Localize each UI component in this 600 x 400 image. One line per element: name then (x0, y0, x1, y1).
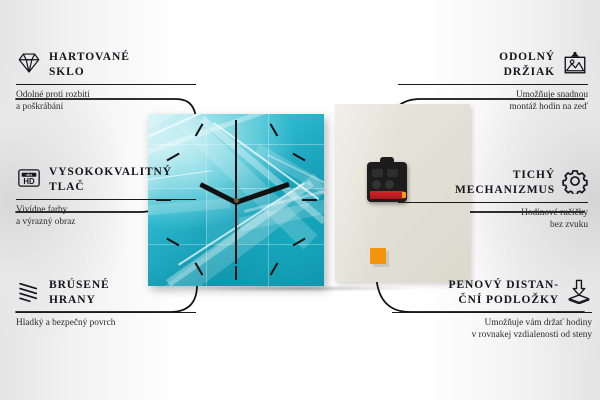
feature-description: Vivídne farby a výrazný obraz (16, 205, 196, 228)
feature-ground-edges: BRÚSENÉ HRANY Hladký a bezpečný povrch (16, 278, 196, 330)
feature-title: HARTOVANÉ SKLO (49, 50, 130, 80)
ultra-hd-icon: ultra HD (16, 165, 42, 191)
mechanism-detail-4 (385, 180, 394, 189)
product-infographic: HARTOVANÉ SKLO Odolné proti rozbití a po… (0, 0, 600, 400)
feature-description: Odolné proti rozbití a poškrábání (16, 90, 196, 113)
svg-text:HD: HD (23, 177, 35, 186)
feature-title: VYSOKOKVALITNÝ TLAČ (49, 165, 172, 195)
hour-marker (235, 266, 237, 280)
hour-marker (270, 123, 279, 136)
feature-high-quality-print: ultra HD VYSOKOKVALITNÝ TLAČ Vivídne far… (16, 165, 196, 228)
mechanism-detail-2 (387, 169, 398, 177)
hour-marker (302, 199, 317, 201)
feature-durable-holder: ODOLNÝ DRŽIAK Umožňuje snadnou montáž ho… (398, 50, 588, 113)
feature-title: PENOVÝ DISTAN- ČNÍ PODLOŽKY (449, 278, 559, 308)
feature-title: ODOLNÝ DRŽIAK (499, 50, 555, 80)
divider (16, 84, 196, 85)
diamond-icon (16, 50, 42, 76)
clock-hub (234, 198, 239, 203)
foam-spacer-icon (566, 278, 592, 304)
gear-icon (562, 168, 588, 194)
foam-spacer-pad (370, 248, 386, 264)
hour-marker (292, 153, 305, 162)
feature-foam-spacers: PENOVÝ DISTAN- ČNÍ PODLOŽKY Umožňuje vám… (392, 278, 592, 341)
feature-description: Hladký a bezpečný povrch (16, 318, 196, 330)
ground-edges-icon (16, 278, 42, 304)
feature-silent-mechanism: TICHÝ MECHANIZMUS Hodinové ručičky bez z… (398, 168, 588, 231)
mechanism-hanger-tab (380, 157, 394, 164)
divider (398, 202, 588, 203)
mechanism-detail-3 (372, 180, 381, 189)
divider (392, 312, 592, 313)
divider (16, 312, 196, 313)
mechanism-detail-1 (372, 169, 383, 177)
feature-title: TICHÝ MECHANIZMUS (455, 168, 555, 198)
feature-description: Hodinové ručičky bez zvuku (398, 208, 588, 231)
divider (16, 199, 196, 200)
divider (398, 84, 588, 85)
feature-tempered-glass: HARTOVANÉ SKLO Odolné proti rozbití a po… (16, 50, 196, 113)
feature-description: Umožňuje vám držať hodiny v rovnakej vzd… (392, 318, 592, 341)
feature-description: Umožňuje snadnou montáž hodin na zeď (398, 90, 588, 113)
hour-marker (270, 262, 279, 275)
feature-title: BRÚSENÉ HRANY (49, 278, 110, 308)
wall-hanger-icon (562, 50, 588, 76)
